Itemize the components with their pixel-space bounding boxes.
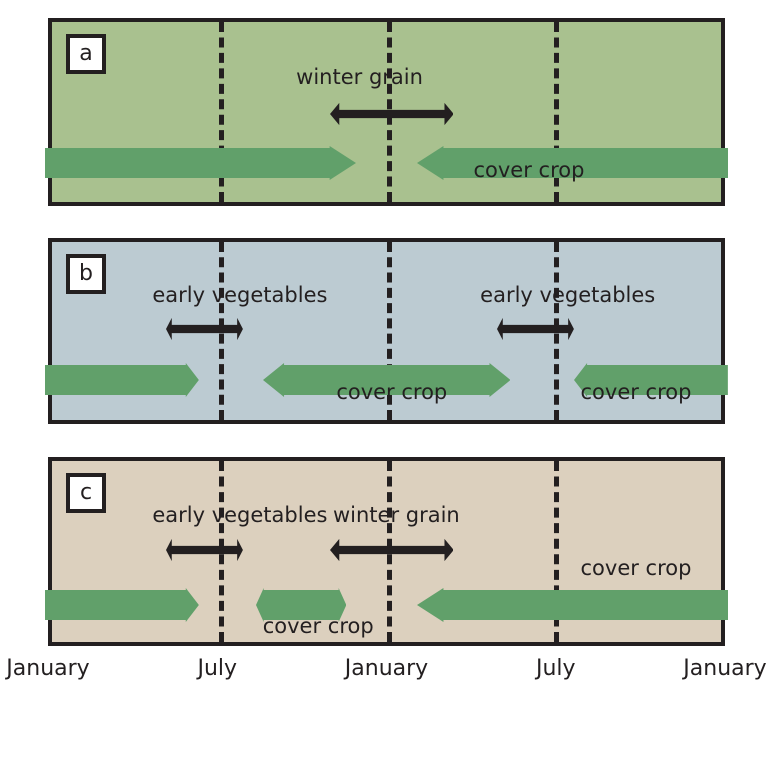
timeline-tick-label: January — [345, 656, 428, 681]
winter-grain-label: winter grain — [296, 67, 423, 88]
timeline-tick-label: July — [197, 656, 237, 681]
winter-grain-label: winter grain — [333, 505, 460, 526]
winter-grain-arrow-icon — [330, 97, 454, 131]
early-vegetables-label-1: early vegetables — [152, 285, 327, 306]
panel-a-letter-badge: a — [66, 34, 106, 74]
early-vegetables-arrow-icon — [166, 533, 243, 567]
panel-c: early vegetableswinter graincover cropco… — [48, 457, 725, 646]
cover-crop-label-bottom: cover crop — [263, 616, 374, 637]
cover-crop-arrow-left-icon — [45, 140, 356, 186]
early-vegetables-arrow-2-icon — [497, 312, 574, 346]
panel-b-letter-badge: b — [66, 254, 106, 294]
cover-crop-label-1: cover crop — [336, 382, 447, 403]
cover-crop-arrow-right-icon — [417, 582, 728, 628]
winter-grain-arrow-icon — [330, 533, 454, 567]
cover-crop-arrow-left-icon — [45, 582, 199, 628]
timeline-tick-label: July — [536, 656, 576, 681]
timeline-axis: JanuaryJulyJanuaryJulyJanuary — [0, 656, 768, 696]
panel-c-content: early vegetableswinter graincover cropco… — [52, 461, 721, 642]
panel-a: winter graincover crop a — [48, 18, 725, 206]
timeline-tick-label: January — [6, 656, 89, 681]
cover-crop-label-top: cover crop — [581, 558, 692, 579]
early-vegetables-label: early vegetables — [152, 505, 327, 526]
panel-c-letter-badge: c — [66, 473, 106, 513]
panel-a-content: winter graincover crop — [52, 22, 721, 202]
cover-crop-arrow-1-icon — [45, 357, 199, 403]
early-vegetables-label-2: early vegetables — [480, 285, 655, 306]
panel-b: early vegetablesearly vegetablescover cr… — [48, 238, 725, 424]
cover-crop-label: cover crop — [473, 160, 584, 181]
early-vegetables-arrow-1-icon — [166, 312, 243, 346]
cover-crop-label-2: cover crop — [581, 382, 692, 403]
panel-b-content: early vegetablesearly vegetablescover cr… — [52, 242, 721, 420]
timeline-tick-label: January — [683, 656, 766, 681]
figure-root: winter graincover crop a early vegetable… — [0, 0, 768, 768]
